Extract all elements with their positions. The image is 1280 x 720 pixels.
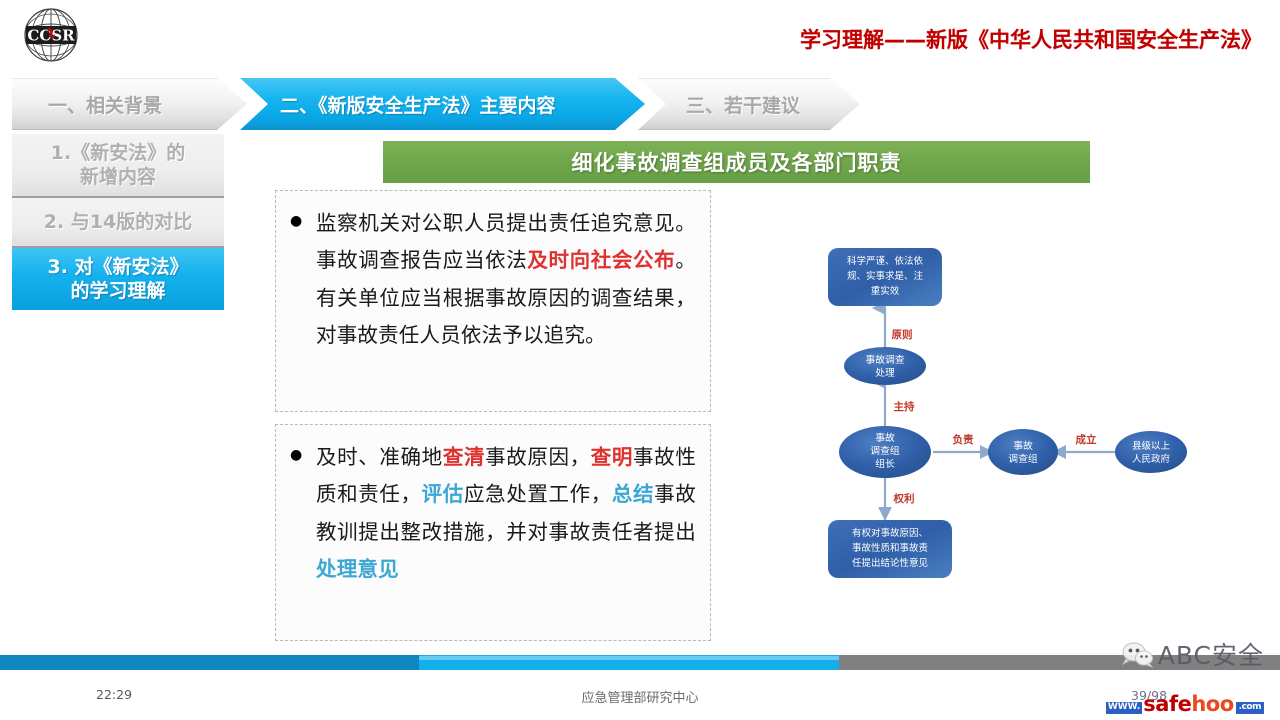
section-tabbar: 一、相关背景 二、《新版安全生产法》主要内容 三、若干建议 [12, 78, 857, 130]
node-leader-line2: 调查组 [870, 444, 900, 457]
node-handling-line1: 事故调查 [865, 353, 904, 366]
tab-label: 三、若干建议 [686, 91, 800, 118]
tab-background[interactable]: 一、相关背景 [12, 78, 247, 130]
brand-www-badge: WWW. [1106, 702, 1142, 714]
text-segment-blue: 评估 [422, 482, 464, 506]
sidebar-item-label-line1: 2. 与14版的对比 [44, 210, 193, 234]
text-segment-normal: 及时、准确地 [316, 445, 443, 469]
footer-progress-bar [0, 655, 1280, 671]
node-government-ellipse [1115, 431, 1187, 473]
slide-canvas: CCSR 学习理解——新版《中华人民共和国安全生产法》 一、相关背景 二、《新版… [0, 0, 1280, 720]
page-title: 学习理解——新版《中华人民共和国安全生产法》 [800, 24, 1262, 54]
watermark-label: ABC安全 [1158, 636, 1264, 672]
sidebar-item-study-understanding[interactable]: 3. 对《新安法》 的学习理解 [12, 248, 224, 310]
node-group-line1: 事故 [1013, 439, 1033, 452]
edge-label-principle: 原则 [892, 328, 913, 341]
edge-label-preside: 主持 [894, 400, 915, 413]
node-government-line1: 县级以上 [1132, 440, 1171, 452]
node-leader-line1: 事故 [875, 431, 895, 444]
content-textbox-2: ● 及时、准确地查清事故原因，查明事故性质和责任，评估应急处置工作，总结事故教训… [275, 424, 711, 641]
node-power-line1: 有权对事故原因、 [852, 527, 928, 539]
node-power-line3: 任提出结论性意见 [852, 557, 928, 569]
text-segment-red: 查明 [591, 445, 633, 469]
bullet-point-icon: ● [290, 439, 316, 588]
sidebar-item-label-line1: 1.《新安法》的 [51, 141, 185, 165]
text-segment-red: 及时向社会公布 [527, 248, 675, 272]
node-government-line2: 人民政府 [1132, 453, 1171, 465]
progress-segment-dark [0, 655, 419, 670]
content-textbox-1: ● 监察机关对公职人员提出责任追究意见。事故调查报告应当依法及时向社会公布。有关… [275, 190, 711, 412]
footer-organization: 应急管理部研究中心 [0, 687, 1280, 706]
globe-icon: CCSR [20, 6, 82, 64]
sidebar-item-new-content[interactable]: 1.《新安法》的 新增内容 [12, 134, 224, 198]
sidebar-item-comparison[interactable]: 2. 与14版的对比 [12, 198, 224, 248]
watermark-safehoo-brand: WWW. safe hoo .com [1106, 692, 1264, 716]
banner-label: 细化事故调查组成员及各部门职责 [572, 147, 902, 177]
node-power-line2: 事故性质和事故责 [852, 542, 928, 554]
wechat-icon [1121, 641, 1153, 668]
node-principle-line3: 重实效 [871, 285, 900, 297]
sidebar-item-label-line1: 3. 对《新安法》 [47, 255, 188, 279]
edge-label-rights: 权利 [893, 492, 915, 505]
ccsr-logo: CCSR [20, 6, 82, 64]
sidebar-item-label-line2: 的学习理解 [47, 279, 188, 303]
node-handling-ellipse [844, 347, 926, 385]
text-segment-red: 查清 [443, 445, 485, 469]
paragraph-text: 及时、准确地查清事故原因，查明事故性质和责任，评估应急处置工作，总结事故教训提出… [316, 439, 696, 588]
tab-suggestions[interactable]: 三、若干建议 [638, 78, 860, 130]
brand-safe-text: safe [1143, 692, 1191, 716]
edge-label-establish: 成立 [1076, 433, 1098, 446]
node-group-ellipse [988, 429, 1058, 475]
node-handling-line2: 处理 [875, 367, 895, 379]
progress-sheen [419, 656, 839, 660]
edge-label-responsible: 负责 [953, 433, 974, 446]
brand-com-badge: .com [1236, 702, 1264, 714]
text-segment-normal: 事故原因， [485, 445, 591, 469]
node-group-line2: 调查组 [1008, 452, 1038, 465]
sidebar: 1.《新安法》的 新增内容 2. 与14版的对比 3. 对《新安法》 的学习理解 [12, 134, 224, 310]
node-principle-line1: 科学严谨、依法依 [847, 255, 924, 267]
tab-label: 二、《新版安全生产法》主要内容 [280, 91, 556, 118]
node-principle-line2: 规、实事求是、注 [847, 270, 924, 282]
watermark-abc-safety: ABC安全 [1121, 636, 1264, 672]
sidebar-item-label-line2: 新增内容 [51, 165, 185, 189]
responsibility-flow-diagram: 科学严谨、依法依 规、实事求是、注 重实效 原则 事故调查 处理 主持 事故 调… [790, 230, 1220, 600]
tab-main-content[interactable]: 二、《新版安全生产法》主要内容 [240, 78, 645, 130]
text-segment-blue: 处理意见 [316, 557, 399, 581]
tab-label: 一、相关背景 [48, 91, 162, 118]
bullet-point-icon: ● [290, 205, 316, 354]
content-banner-title: 细化事故调查组成员及各部门职责 [383, 141, 1090, 183]
text-segment-blue: 总结 [612, 482, 654, 506]
text-segment-normal: 应急处置工作， [464, 482, 612, 506]
brand-hoo-text: hoo [1191, 692, 1233, 716]
node-leader-line3: 组长 [875, 457, 895, 470]
paragraph-text: 监察机关对公职人员提出责任追究意见。事故调查报告应当依法及时向社会公布。有关单位… [316, 205, 696, 354]
